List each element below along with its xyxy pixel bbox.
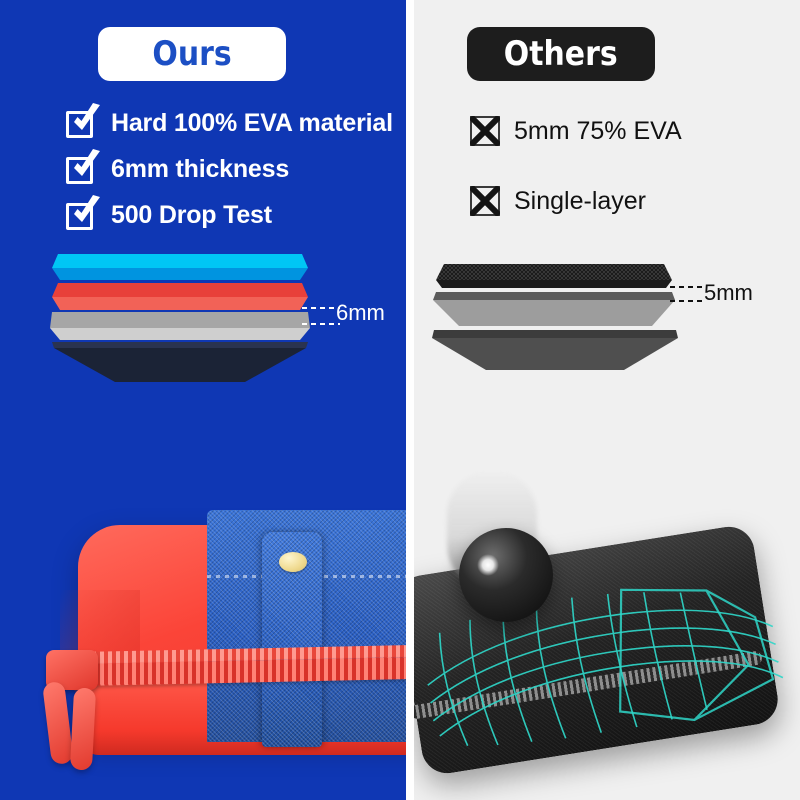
- checkbox-checked-icon: [66, 200, 97, 231]
- impact-ball: [459, 528, 553, 622]
- gray-layer: [50, 312, 310, 340]
- ours-feature-label: 6mm thickness: [111, 155, 289, 184]
- checkbox-crossed-icon: [470, 186, 500, 216]
- zipper-pull: [70, 687, 96, 770]
- product-comparison-infographic: Ours Hard 100% EVA material 6mm thicknes…: [0, 0, 800, 800]
- others-badge: Others: [467, 27, 655, 81]
- black-textured-top-layer: [436, 264, 672, 288]
- red-eva-carrying-case-photo: [0, 470, 406, 800]
- others-panel: Others 5mm 75% EVA Single-layer: [414, 0, 800, 800]
- ours-feature-row: Hard 100% EVA material: [66, 108, 393, 139]
- ours-panel: Ours Hard 100% EVA material 6mm thicknes…: [0, 0, 406, 800]
- others-layer-stack: 5mm: [414, 246, 800, 376]
- navy-base-layer: [52, 342, 308, 382]
- others-feature-row: Single-layer: [470, 186, 646, 216]
- ours-layer-stack: 6mm: [0, 246, 406, 386]
- cyan-top-layer: [52, 254, 308, 280]
- others-badge-label: Others: [504, 34, 618, 74]
- dark-gray-base-layer: [432, 330, 678, 370]
- ours-badge-label: Ours: [152, 34, 231, 74]
- snap-button: [279, 552, 307, 572]
- others-feature-label: 5mm 75% EVA: [514, 117, 682, 146]
- ours-badge: Ours: [98, 27, 286, 81]
- checkbox-checked-icon: [66, 108, 97, 139]
- checkbox-crossed-icon: [470, 116, 500, 146]
- ours-feature-label: Hard 100% EVA material: [111, 109, 393, 138]
- red-layer: [52, 283, 308, 310]
- others-feature-label: Single-layer: [514, 187, 646, 216]
- black-case-drop-test-photo: [414, 450, 800, 800]
- ours-feature-label: 500 Drop Test: [111, 201, 272, 230]
- ours-dimension-label: 6mm: [336, 300, 385, 326]
- checkbox-checked-icon: [66, 154, 97, 185]
- ours-feature-row: 6mm thickness: [66, 154, 289, 185]
- others-feature-row: 5mm 75% EVA: [470, 116, 682, 146]
- panel-divider: [406, 0, 414, 800]
- gray-middle-layer: [433, 292, 675, 326]
- others-dimension-label: 5mm: [704, 280, 753, 306]
- ours-feature-row: 500 Drop Test: [66, 200, 272, 231]
- zipper-pull: [42, 681, 74, 765]
